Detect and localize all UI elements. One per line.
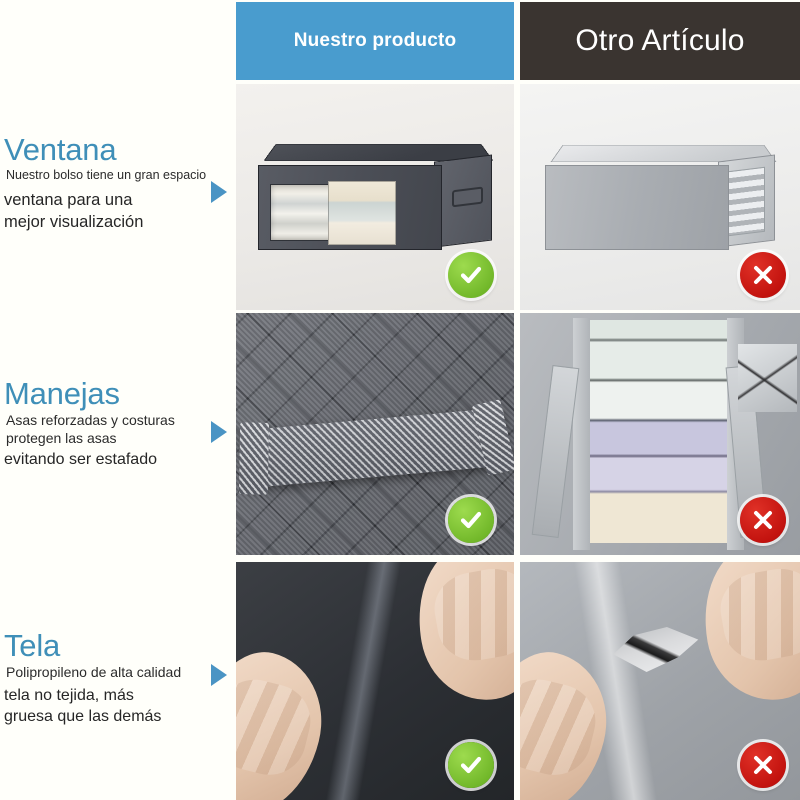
product-comparison-infographic: Nuestro producto Otro Artículo Ventana N… xyxy=(0,0,800,800)
fabric-crease xyxy=(324,562,403,800)
triangle-right-icon xyxy=(211,664,227,686)
feature-title-ventana: Ventana xyxy=(4,134,232,166)
column-header-our-product: Nuestro producto xyxy=(236,2,514,80)
bag-side-slats xyxy=(726,166,764,236)
feature-block-tela: Tela Polipropileno de alta calidad tela … xyxy=(4,630,232,727)
torn-handle-rip xyxy=(738,344,797,412)
hand-right xyxy=(407,562,514,710)
check-icon xyxy=(448,497,494,543)
feature-subtitle-manejas: Asas reforzadas y costuras protegen las … xyxy=(6,412,232,447)
knuckles xyxy=(520,672,603,783)
bag-side-panel xyxy=(434,154,492,247)
cross-icon xyxy=(740,497,786,543)
knuckles xyxy=(429,563,514,667)
check-icon xyxy=(448,742,494,788)
feature-subtitle-ventana: Nuestro bolso tiene un gran espacio xyxy=(6,168,232,184)
cross-icon xyxy=(740,742,786,788)
feature-subtitle-tela: Polipropileno de alta calidad xyxy=(6,664,232,682)
folded-towels xyxy=(328,181,396,245)
bag-post-left xyxy=(573,318,590,550)
storage-bag-illustration xyxy=(258,152,492,251)
bag-front-panel xyxy=(258,165,442,251)
knuckles xyxy=(715,563,800,667)
feature-title-tela: Tela xyxy=(4,630,232,662)
plain-bag-illustration xyxy=(545,152,775,251)
knuckles xyxy=(236,672,318,782)
column-header-our-product-label: Nuestro producto xyxy=(294,30,457,52)
check-icon xyxy=(448,252,494,298)
feature-body-ventana: ventana para una mejor visualización xyxy=(4,190,232,234)
column-header-other-item-label: Otro Artículo xyxy=(575,24,744,58)
stacked-towels xyxy=(587,320,733,543)
column-header-other-item: Otro Artículo xyxy=(520,2,800,80)
bag-front-panel xyxy=(545,165,728,251)
triangle-right-icon xyxy=(211,181,227,203)
bag-side-handle xyxy=(452,186,483,207)
feature-title-manejas: Manejas xyxy=(4,378,232,410)
hand-right xyxy=(692,562,800,710)
triangle-right-icon xyxy=(211,421,227,443)
feature-block-manejas: Manejas Asas reforzadas y costuras prote… xyxy=(4,378,232,470)
hand-left xyxy=(236,640,337,800)
cross-icon xyxy=(740,252,786,298)
feature-body-manejas: evitando ser estafado xyxy=(4,449,232,470)
feature-text-column: Ventana Nuestro bolso tiene un gran espa… xyxy=(0,0,236,800)
feature-block-ventana: Ventana Nuestro bolso tiene un gran espa… xyxy=(4,134,232,233)
feature-body-tela: tela no tejida, más gruesa que las demás xyxy=(4,685,232,727)
